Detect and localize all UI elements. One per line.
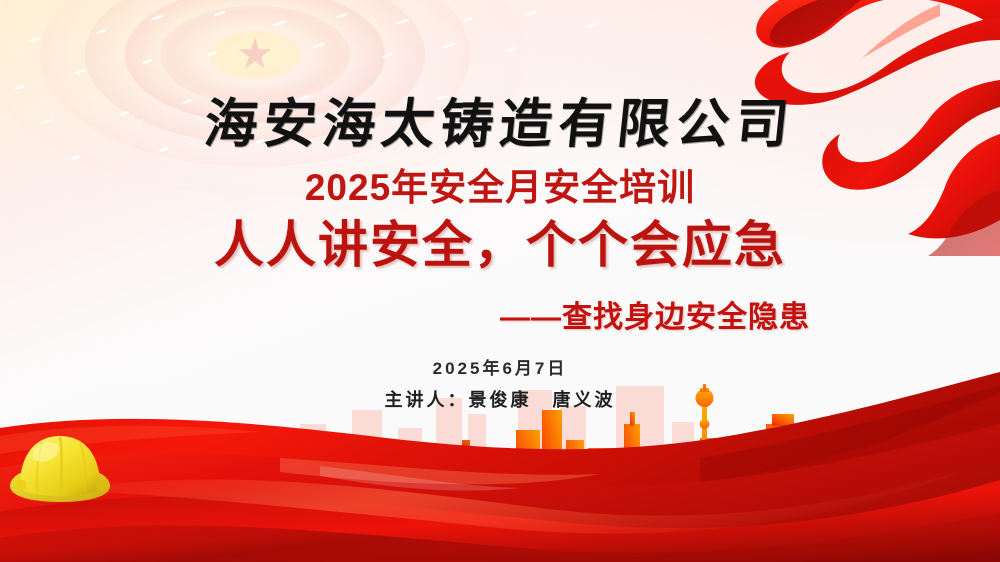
speaker-names: 主讲人：景俊康 唐义波	[0, 386, 1000, 412]
safety-slogan: 人人讲安全，个个会应急	[0, 205, 1000, 277]
tagline-text: ——查找身边安全隐患	[500, 292, 810, 336]
presentation-date: 2025年6月7日	[0, 354, 1000, 379]
training-subtitle: 2025年安全月安全培训	[0, 157, 1000, 211]
presentation-title-slide: 海安海太铸造有限公司 2025年安全月安全培训 人人讲安全，个个会应急 ——查找…	[0, 0, 1000, 562]
company-name-title: 海安海太铸造有限公司	[0, 82, 1000, 158]
title-text-block: 海安海太铸造有限公司 2025年安全月安全培训 人人讲安全，个个会应急 ——查找…	[0, 0, 1000, 562]
